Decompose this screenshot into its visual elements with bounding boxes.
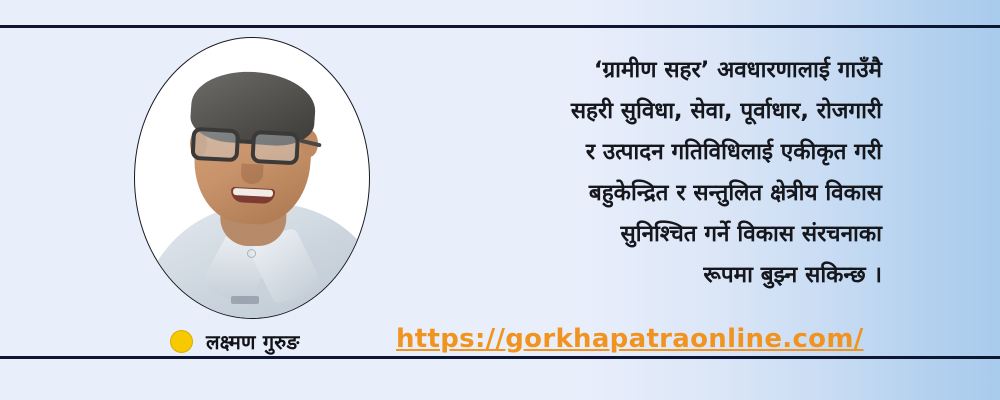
- eyeglasses-icon: [190, 127, 316, 167]
- divider-bottom: [0, 356, 1000, 359]
- portrait-teeth: [233, 188, 273, 197]
- divider-top: [0, 25, 1000, 28]
- portrait-lens-left: [190, 127, 240, 162]
- quote-line-5: सुनिश्चित गर्ने विकास संरचनाका: [342, 214, 882, 255]
- portrait-lens-right: [250, 130, 300, 165]
- quote-line-1: ‘ग्रामीण सहर’ अवधारणालाई गाउँमै: [342, 50, 882, 91]
- quote-text: ‘ग्रामीण सहर’ अवधारणालाई गाउँमै सहरी सुव…: [342, 50, 882, 296]
- bullet-dot-icon: [170, 330, 193, 353]
- portrait-shirt-button: [247, 249, 256, 258]
- portrait-block: [134, 37, 370, 319]
- portrait-mouth: [231, 187, 276, 204]
- author-name: लक्ष्मण गुरुङ: [206, 328, 299, 355]
- portrait-shirt-logo: [231, 296, 259, 304]
- portrait-glasses-temple: [299, 139, 321, 148]
- byline: लक्ष्मण गुरुङ: [170, 328, 299, 355]
- website-url-link[interactable]: https://gorkhapatraonline.com/: [396, 324, 864, 354]
- quote-line-3: र उत्पादन गतिविधिलाई एकीकृत गरी: [342, 132, 882, 173]
- quote-line-2: सहरी सुविधा, सेवा, पूर्वाधार, रोजगारी: [342, 91, 882, 132]
- quote-line-4: बहुकेन्द्रित र सन्तुलित क्षेत्रीय विकास: [342, 173, 882, 214]
- quote-card: लक्ष्मण गुरुङ ‘ग्रामीण सहर’ अवधारणालाई ग…: [0, 0, 1000, 400]
- quote-line-6: रूपमा बुझ्न सकिन्छ ।: [342, 255, 882, 296]
- portrait-photo: [134, 37, 370, 319]
